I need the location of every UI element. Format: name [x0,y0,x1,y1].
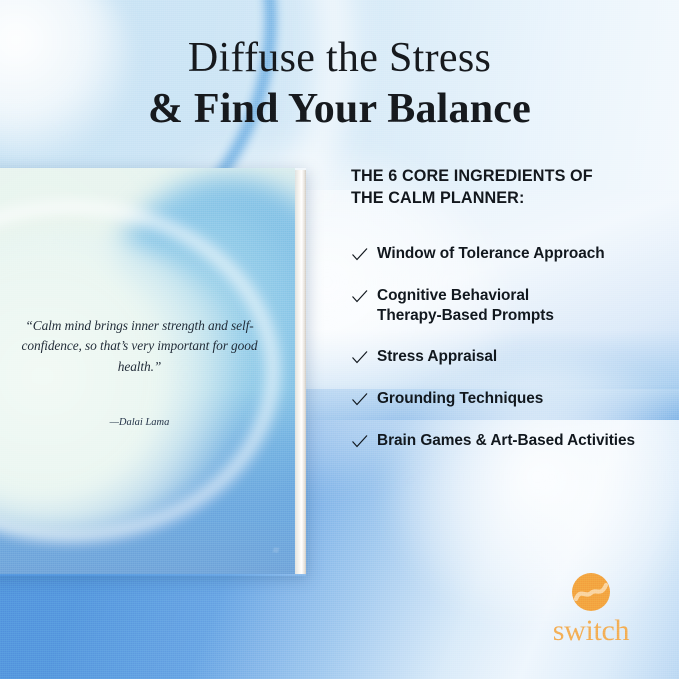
list-item-label: Stress Appraisal [377,347,497,367]
check-icon [351,350,368,367]
check-icon [351,289,368,306]
check-icon [351,434,368,451]
ingredients-panel: THE 6 CORE INGREDIENTS OF THE CALM PLANN… [351,166,667,209]
switch-circle-icon [570,572,612,614]
panel-subhead: THE 6 CORE INGREDIENTS OF THE CALM PLANN… [351,166,667,209]
book-page-edge [295,170,306,574]
promo-canvas: Diffuse the Stress & Find Your Balance “… [0,0,679,679]
panel-subhead-line-2: THE CALM PLANNER: [351,189,524,207]
book-quote: “Calm mind brings inner strength and sel… [10,316,269,377]
book-product-image: “Calm mind brings inner strength and sel… [0,168,306,576]
list-item: Brain Games & Art-Based Activities [351,431,667,451]
headline-line-2: & Find Your Balance [0,87,679,132]
panel-subhead-line-1: THE 6 CORE INGREDIENTS OF [351,167,593,185]
check-icon [351,392,368,409]
book-cover: “Calm mind brings inner strength and sel… [0,168,295,574]
book-quote-attribution: —Dalai Lama [10,417,269,428]
check-icon [351,247,368,264]
list-item: Cognitive Behavioral Therapy-Based Promp… [351,286,667,325]
list-item: Stress Appraisal [351,347,667,367]
list-item-label: Cognitive Behavioral Therapy-Based Promp… [377,286,577,325]
list-item-label: Window of Tolerance Approach [377,244,605,264]
headline: Diffuse the Stress & Find Your Balance [0,36,679,131]
ingredients-list: Window of Tolerance Approach Cognitive B… [351,244,667,473]
brand-logo: switch [541,572,641,646]
logo-wordmark: switch [541,616,641,646]
cover-corner-watermark: ≋ [257,545,279,558]
list-item: Grounding Techniques [351,389,667,409]
list-item: Window of Tolerance Approach [351,244,667,264]
headline-line-1: Diffuse the Stress [0,36,679,81]
list-item-label: Brain Games & Art-Based Activities [377,431,635,451]
list-item-label: Grounding Techniques [377,389,543,409]
